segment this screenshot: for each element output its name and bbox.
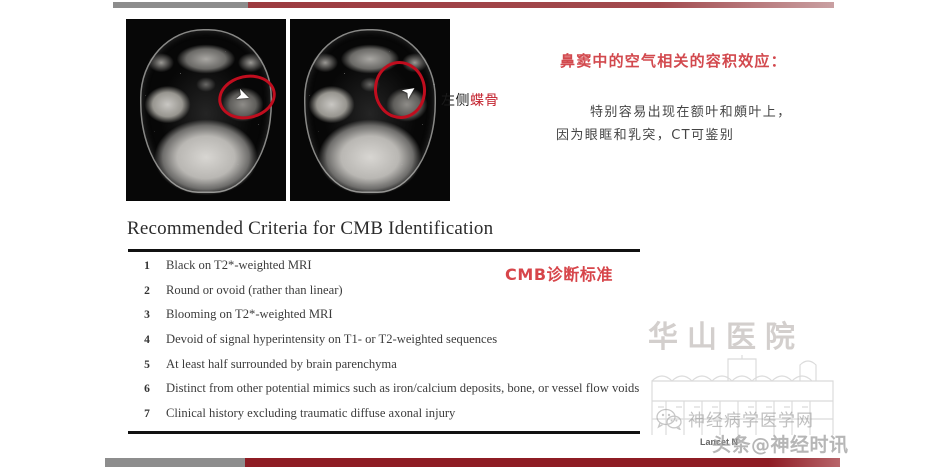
watermark-wechat-block: 神经病学医学网 [656, 406, 814, 431]
criteria-row: 6 Distinct from other potential mimics s… [128, 381, 648, 406]
criteria-text: Black on T2*-weighted MRI [166, 258, 312, 273]
mri-anatomy-label: 左侧蝶骨 [441, 90, 499, 110]
criteria-text: Round or ovoid (rather than linear) [166, 283, 343, 298]
criteria-number: 7 [128, 408, 166, 420]
mri-axial-image-right: ➤ [290, 19, 450, 201]
criteria-number: 6 [128, 383, 166, 395]
watermark-wechat-account: 神经病学医学网 [688, 406, 814, 431]
mri-image-panel: ➤ ➤ [126, 19, 451, 201]
criteria-text: Devoid of signal hyperintensity on T1- o… [166, 332, 497, 347]
criteria-number: 4 [128, 334, 166, 346]
criteria-row: 2 Round or ovoid (rather than linear) [128, 283, 648, 308]
criteria-number: 5 [128, 359, 166, 371]
criteria-row: 3 Blooming on T2*-weighted MRI [128, 307, 648, 332]
criteria-text: Clinical history excluding traumatic dif… [166, 406, 455, 421]
criteria-row: 5 At least half surrounded by brain pare… [128, 357, 648, 382]
cmb-criteria-annotation: CMB诊断标准 [505, 261, 613, 285]
criteria-number: 1 [128, 260, 166, 272]
criteria-text: Distinct from other potential mimics suc… [166, 381, 639, 396]
slide-top-grey-bar [113, 2, 248, 8]
criteria-text: At least half surrounded by brain parenc… [166, 357, 397, 372]
criteria-table-title: Recommended Criteria for CMB Identificat… [127, 218, 493, 240]
mri-axial-image-left: ➤ [126, 19, 286, 201]
mri-label-structure: 蝶骨 [470, 93, 499, 109]
annotation-heading: 鼻窦中的空气相关的容积效应： [560, 50, 787, 71]
annotation-body-line-1: 特别容易出现在额叶和頗叶上， [556, 101, 846, 124]
criteria-number: 2 [128, 285, 166, 297]
mri-label-side: 左侧 [441, 93, 470, 109]
criteria-text: Blooming on T2*-weighted MRI [166, 307, 333, 322]
annotation-body-line-2: 因为眼眶和乳突，CT可鉴别 [556, 124, 846, 147]
slide-bottom-red-bar [245, 458, 840, 467]
slide-top-red-bar [248, 2, 834, 8]
annotation-body: 特别容易出现在额叶和頗叶上， 因为眼眶和乳突，CT可鉴别 [556, 101, 846, 147]
criteria-row: 7 Clinical history excluding traumatic d… [128, 406, 648, 431]
criteria-rule-bottom [128, 431, 640, 434]
watermark-toutiao-account: 头条@神经时讯 [712, 430, 849, 457]
criteria-rule-top [128, 249, 640, 252]
criteria-row: 4 Devoid of signal hyperintensity on T1-… [128, 332, 648, 357]
wechat-icon [656, 408, 682, 430]
criteria-number: 3 [128, 309, 166, 321]
watermark-hospital-name: 华山医院 [648, 312, 804, 356]
slide-bottom-grey-bar [105, 458, 245, 467]
